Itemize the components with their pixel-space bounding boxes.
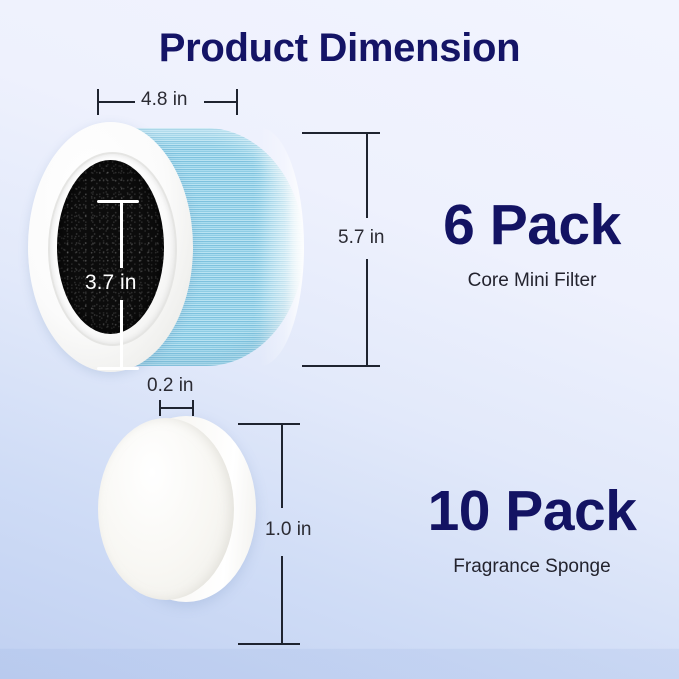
dimension-line-left xyxy=(97,101,135,103)
product-dimension-infographic: Product Dimension 3.7 in 4.8 in 5.7 in 6… xyxy=(0,0,679,679)
pack-name-filter: Core Mini Filter xyxy=(398,270,666,293)
dimension-label-thickness: 0.2 in xyxy=(147,376,193,395)
dimension-line-upper xyxy=(120,200,123,268)
dimension-line-upper xyxy=(281,424,283,508)
dimension-cap-top xyxy=(97,200,139,203)
dimension-line-lower xyxy=(281,556,283,644)
cylinder-end-highlight xyxy=(260,128,304,366)
dimension-cap-left xyxy=(159,400,161,416)
sponge-front-face xyxy=(98,418,234,600)
pack-name-sponge: Fragrance Sponge xyxy=(398,556,666,579)
core-mini-filter-image: 3.7 in xyxy=(28,122,306,372)
filter-front-face: 3.7 in xyxy=(28,122,193,372)
dimension-cap-bottom xyxy=(238,643,300,645)
dimension-line-upper xyxy=(366,133,368,218)
dimension-line-lower xyxy=(366,259,368,366)
dimension-line-right xyxy=(204,101,238,103)
dimension-label-inner-diameter: 3.7 in xyxy=(85,272,136,293)
dimension-cap-right xyxy=(192,400,194,416)
activated-carbon-center: 3.7 in xyxy=(57,160,164,334)
pack-block-sponge: 10 Pack Fragrance Sponge xyxy=(398,482,666,579)
dimension-cap-top xyxy=(238,423,300,425)
dimension-cap-top xyxy=(302,132,380,134)
dimension-label-width: 4.8 in xyxy=(141,90,187,109)
pack-count-sponge: 10 Pack xyxy=(398,482,666,542)
dimension-line-thickness xyxy=(159,407,194,409)
dimension-label-diameter: 1.0 in xyxy=(265,520,311,539)
pack-count-filter: 6 Pack xyxy=(398,196,666,256)
page-title: Product Dimension xyxy=(0,26,679,70)
pack-block-filter: 6 Pack Core Mini Filter xyxy=(398,196,666,293)
fragrance-sponge-image xyxy=(98,416,256,602)
dimension-cap-bottom xyxy=(97,367,139,370)
dimension-cap-left xyxy=(97,89,99,115)
dimension-line-lower xyxy=(120,300,123,370)
dimension-label-height: 5.7 in xyxy=(338,228,384,247)
dimension-cap-bottom xyxy=(302,365,380,367)
dimension-cap-right xyxy=(236,89,238,115)
